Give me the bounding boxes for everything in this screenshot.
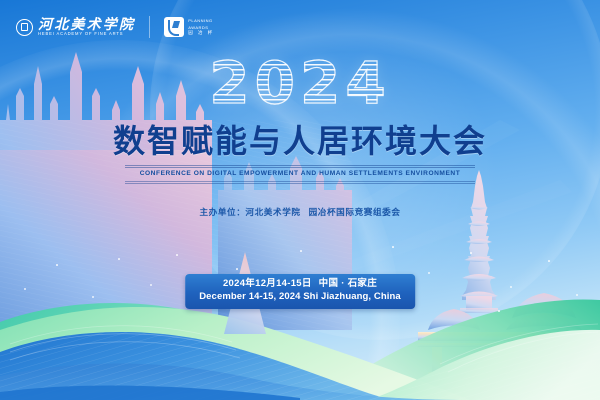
university-name-cn: 河北美术学院 (38, 18, 135, 32)
location-cn: 中国 · 石家庄 (319, 278, 377, 289)
host-line: 主办单位：河北美术学院园冶杯国际竞赛组委会 (0, 206, 600, 218)
particle-dot (392, 246, 394, 248)
partner-logo[interactable]: PLANNING AWARDS 园 冶 杯 (164, 17, 214, 37)
date-location-en: December 14-15, 2024 Shi Jiazhuang, Chin… (199, 291, 401, 304)
particle-dot (548, 260, 550, 262)
title-rule-top (125, 165, 475, 169)
particle-dot (510, 286, 512, 288)
title-block: 数智赋能与人居环境大会 CONFERENCE ON DIGITAL EMPOWE… (0, 124, 600, 218)
partner-name-en-line2: AWARDS (188, 25, 214, 30)
host-org-1: 河北美术学院 (245, 207, 300, 217)
conference-title-en: CONFERENCE ON DIGITAL EMPOWERMENT AND HU… (0, 171, 600, 178)
conference-poster: 河北美术学院 HEBEI ACADEMY OF FINE ARTS PLANNI… (0, 0, 600, 400)
particle-dot (576, 294, 578, 296)
host-label: 主办单位： (199, 207, 245, 217)
particle-dot (498, 310, 500, 312)
particle-dot (118, 258, 120, 260)
particle-dot (300, 250, 302, 252)
year-text: 2024 (209, 54, 390, 112)
host-org-2: 园冶杯国际竞赛组委会 (309, 207, 401, 217)
title-rule-bottom (125, 181, 475, 185)
particle-dot (150, 284, 152, 286)
particle-dot (24, 288, 26, 290)
poster-header: 河北美术学院 HEBEI ACADEMY OF FINE ARTS PLANNI… (0, 0, 600, 54)
partner-name-cn: 园 冶 杯 (188, 31, 214, 36)
date-location-badge: 2024年12月14-15日中国 · 石家庄 December 14-15, 2… (185, 274, 415, 309)
university-logo[interactable]: 河北美术学院 HEBEI ACADEMY OF FINE ARTS (16, 18, 135, 37)
partner-name-en-line1: PLANNING (188, 18, 214, 23)
particle-dot (236, 268, 238, 270)
particle-dot (470, 252, 472, 254)
date-cn: 2024年12月14-15日 (223, 278, 312, 289)
conference-title-cn: 数智赋能与人居环境大会 (0, 124, 600, 160)
particle-dot (92, 296, 94, 298)
particle-dot (428, 272, 430, 274)
university-name-en: HEBEI ACADEMY OF FINE ARTS (38, 32, 150, 36)
year-heading: 2024 (0, 54, 600, 112)
university-seal-icon (16, 19, 33, 36)
particle-dot (56, 264, 58, 266)
particle-dot (176, 254, 178, 256)
yuanye-cup-logo-icon (164, 17, 184, 37)
